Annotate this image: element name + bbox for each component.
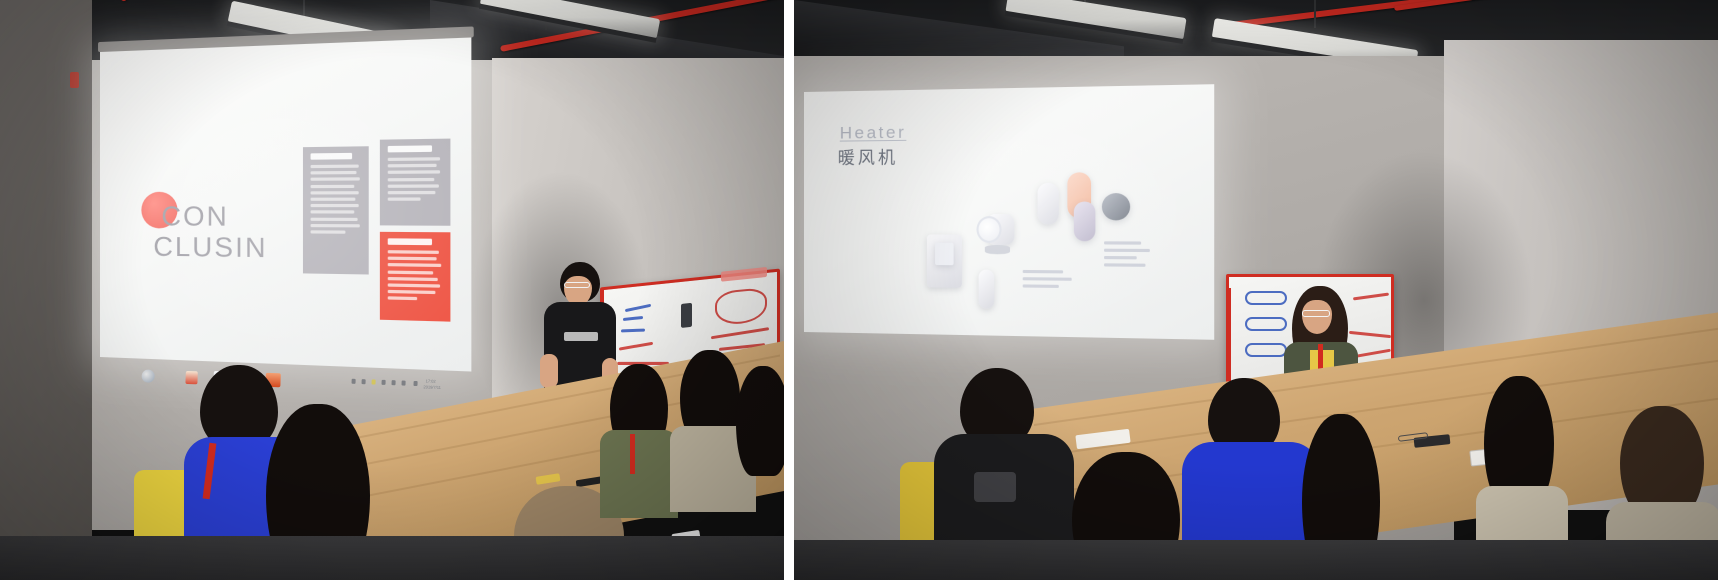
deck-title-line2: CLUSIN [153,230,267,265]
product-heater-slim-gray [979,270,998,316]
student-longhair-2-hair [736,366,784,476]
wb-right-ink-red-a [1353,293,1389,301]
student-black-tee-print [974,472,1016,502]
flame-icon[interactable] [185,371,197,384]
whiteboard-ink-red-cluster [715,287,767,326]
floor-right [794,540,1718,580]
whiteboard-ink-blue-c [621,329,645,333]
photo-pair-stage: Male student presenting CONCLUSION slide… [0,0,1718,580]
light-hanger-right-2 [1314,0,1316,28]
taskbar-clock-time[interactable]: 17:02 [426,379,436,383]
slide-card-car [380,139,451,226]
product-heater-dark-disc [1102,193,1132,222]
slide-conclusion: CON CLUSIN [100,37,471,371]
whiteboard-ink-blue-b [623,316,643,321]
keyboard-icon[interactable] [401,380,405,385]
sound-icon[interactable] [381,380,385,385]
ime-icon[interactable] [391,380,395,385]
presenter-female-glasses-icon [1302,310,1330,317]
presenter-glasses-icon [564,282,590,288]
wb-right-ink-blue-a [1245,291,1287,305]
caption-line-b1 [1104,241,1141,244]
wb-right-ink-blue-c [1245,343,1287,357]
globe-icon[interactable] [141,369,154,382]
student-khaki-right-hair [1620,406,1704,516]
deck-title-line1: CON [161,200,228,234]
caption-line-a2 [1023,277,1072,280]
caption-line-a3 [1023,284,1059,287]
projection-screen-left: CON CLUSIN [100,37,471,371]
slide-heater: Heater 暖风机 [804,84,1214,340]
caption-line-b2 [1104,249,1150,252]
whiteboard-eraser[interactable] [681,303,692,328]
presenter-arm-left [540,354,558,388]
battery-icon[interactable] [372,379,376,384]
photo-gutter [784,0,794,580]
network-icon[interactable] [362,379,366,384]
arrow-up-icon[interactable] [352,379,356,384]
whiteboard-ink-red-c [711,327,769,339]
product-heater-capsule-2 [1074,202,1100,250]
caption-line-b4 [1104,263,1145,266]
heater-title-cn: 暖风机 [838,143,898,169]
student-olive-shirt [600,430,678,518]
whiteboard-ink-blue-a [625,304,651,312]
whiteboard-ink-red-a [619,342,653,351]
emergency-light-icon [70,72,79,88]
presenter-shirt-print [564,332,598,341]
slide-card-environment [380,232,451,322]
caption-line-a1 [1023,270,1063,273]
slide-card-car-heading [388,145,433,152]
product-heater-tower [923,234,968,306]
product-heater-white-fan [974,210,1018,264]
product-heater-capsule [1038,183,1064,233]
left-photo: Male student presenting CONCLUSION slide… [0,0,784,580]
wb-right-ink-red-b [1349,331,1391,338]
projection-screen-right: Heater 暖风机 [804,84,1214,340]
notification-icon[interactable] [413,381,417,386]
student-olive-lanyard [630,434,635,474]
slide-card-user-heading [311,153,352,160]
floor-left [0,536,784,580]
slide-card-user [303,146,369,274]
heater-title-en: Heater [840,123,907,144]
taskbar-clock-date[interactable]: 2019/7/11 [423,385,441,390]
wb-right-ink-blue-b [1245,317,1287,331]
right-photo: Female student presenting Heater product… [794,0,1718,580]
slide-card-environment-heading [388,238,433,245]
caption-line-b3 [1104,256,1137,259]
